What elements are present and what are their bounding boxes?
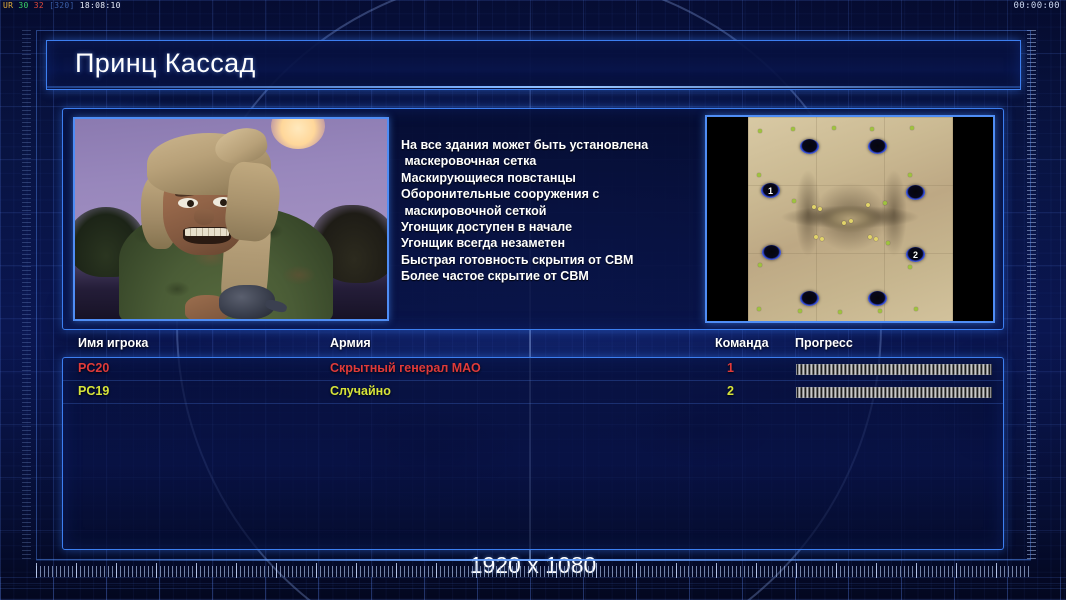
map-resource-marker [842,221,846,225]
ability-line: Более частое скрытие от СВМ [401,268,701,284]
ability-line: Оборонительные сооружения с [401,186,701,202]
page-title: Принц Кассад [75,48,256,79]
ability-line: Угонщик доступен в начале [401,219,701,235]
map-spawn-label [800,139,819,154]
ability-line: маскеровочная сетка [401,153,701,169]
player-table-body: PC20Скрытный генерал МАО1PC19Случайно2 [63,358,1003,404]
map-spawn-point [868,291,887,306]
general-info-panel: На все здания может быть установлена мас… [62,108,1004,330]
map-spawn-point [800,139,819,154]
map-spawn-label [762,245,781,260]
table-row[interactable]: PC20Скрытный генерал МАО1 [63,358,1003,381]
map-resource-marker [812,205,816,209]
status-bracket: [320] [49,1,75,10]
status-value-1: 30 [18,1,28,10]
ability-line: Маскирующиеся повстанцы [401,170,701,186]
ability-line: Угонщик всегда незаметен [401,235,701,251]
map-resource-marker [878,309,882,313]
map-resource-marker [910,126,914,130]
map-resource-marker [820,237,824,241]
map-spawn-point-1: 1 [761,183,780,198]
ability-line: Быстрая готовность скрытия от СВМ [401,252,701,268]
column-header-army: Армия [330,336,371,350]
top-status-bar: UR 30 32 [320] 18:08:10 00:00:00 [0,0,1066,16]
column-header-progress: Прогресс [795,336,853,350]
player-army[interactable]: Случайно [330,384,391,398]
map-spawn-label [868,139,887,154]
column-header-team: Команда [715,336,769,350]
map-resource-marker [838,310,842,314]
title-underline [47,86,1020,88]
map-resource-marker [792,199,796,203]
map-resource-marker [758,129,762,133]
player-team[interactable]: 1 [727,361,734,375]
map-resource-marker [791,127,795,131]
map-spawn-point [868,139,887,154]
map-spawn-point [800,291,819,306]
right-ruler-decoration [1027,30,1036,560]
map-spawn-point-2: 2 [906,247,925,262]
map-resource-marker [866,203,870,207]
map-spawn-label [868,291,887,306]
portrait-teeth [185,228,229,236]
game-lobby-screen: UR 30 32 [320] 18:08:10 00:00:00 Принц К… [0,0,1066,600]
match-timer: 00:00:00 [1013,1,1060,11]
column-header-name: Имя игрока [78,336,148,350]
map-resource-marker [868,235,872,239]
map-spawn-label: 1 [761,183,780,198]
status-value-2: 32 [34,1,44,10]
map-resource-marker [798,309,802,313]
map-resource-marker [870,127,874,131]
map-terrain: 12 [748,117,953,321]
map-resource-marker [757,173,761,177]
general-portrait [73,117,389,321]
map-resource-marker [908,173,912,177]
bottom-grid-decoration [0,577,1066,600]
status-prefix: UR [3,1,13,10]
map-spawn-label [906,185,925,200]
map-resource-marker [849,219,853,223]
system-status-text: UR 30 32 [320] 18:08:10 [3,1,121,10]
portrait-artwork [75,119,387,319]
player-name: PC19 [78,384,109,398]
general-ability-list: На все здания может быть установлена мас… [401,137,701,285]
resolution-label: 1920 x 1080 [0,552,1066,579]
ability-line: На все здания может быть установлена [401,137,701,153]
bottom-divider [36,559,1031,561]
player-table-header: Имя игрока Армия Команда Прогресс [62,336,1004,356]
ability-line: маскировочной сеткой [401,203,701,219]
map-resource-marker [874,237,878,241]
table-row[interactable]: PC19Случайно2 [63,381,1003,404]
title-panel: Принц Кассад [46,40,1021,90]
portrait-pupil-left [187,200,194,207]
portrait-nose [194,209,214,225]
map-resource-marker [914,307,918,311]
map-resource-marker [818,207,822,211]
map-spawn-label: 2 [906,247,925,262]
map-spawn-point [906,185,925,200]
status-clock: 18:08:10 [80,1,121,10]
map-resource-marker [814,235,818,239]
player-table: PC20Скрытный генерал МАО1PC19Случайно2 [62,357,1004,550]
player-army[interactable]: Скрытный генерал МАО [330,361,481,375]
player-progress-bar [796,387,992,398]
map-preview[interactable]: 12 [705,115,995,323]
map-resource-marker [908,265,912,269]
map-resource-marker [758,263,762,267]
map-spawn-label [800,291,819,306]
player-name: PC20 [78,361,109,375]
map-spawn-point [762,245,781,260]
left-ruler-decoration [22,30,31,560]
map-resource-marker [886,241,890,245]
player-team[interactable]: 2 [727,384,734,398]
map-resource-marker [883,201,887,205]
map-resource-marker [832,126,836,130]
map-resource-marker [757,307,761,311]
player-progress-bar [796,364,992,375]
